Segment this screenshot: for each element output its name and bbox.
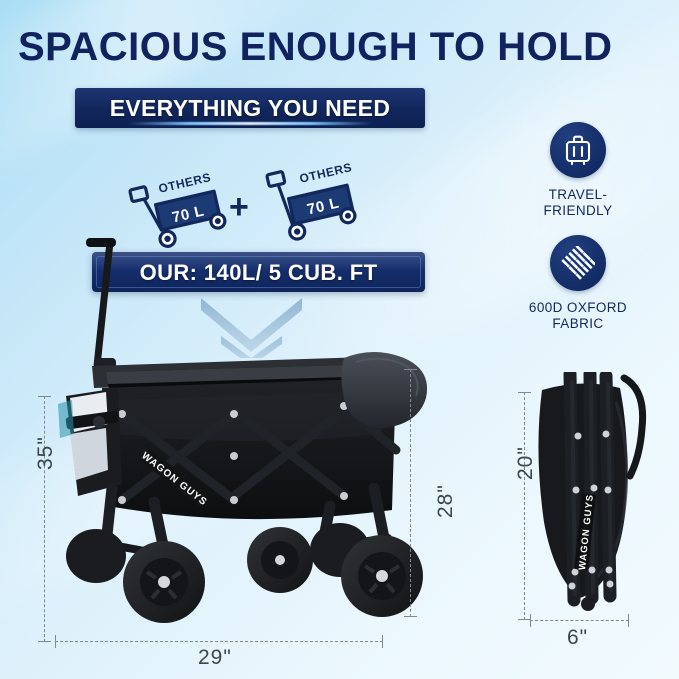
dimension-label-main-height: 35" — [34, 436, 58, 470]
dimension-tick — [518, 392, 531, 393]
feature-badge-oxford-fabric: 600D OXFORD FABRIC — [498, 235, 658, 331]
dimension-label-folded-height: 20" — [514, 446, 538, 480]
page-title: SPACIOUS ENOUGH TO HOLD — [18, 26, 658, 68]
dimension-tick — [55, 635, 56, 648]
dimension-line-main-height — [44, 396, 45, 642]
dimension-line-body-height — [410, 369, 411, 617]
product-image-wagon-folded: WAGON GUYS — [520, 372, 660, 634]
badge-circle — [550, 235, 606, 291]
product-image-wagon-open: WAGON GUYS — [44, 238, 434, 633]
dimension-tick — [38, 641, 51, 642]
banner-glow-underline — [128, 122, 373, 125]
woven-fabric-icon — [561, 246, 595, 280]
feature-badge-travel-friendly: TRAVEL- FRIENDLY — [498, 122, 658, 218]
dimension-tick — [382, 635, 383, 648]
suitcase-icon — [563, 134, 593, 166]
competitor-wagon-icon-2: OTHERS 70 L — [259, 162, 379, 250]
dimension-line-folded-width — [530, 620, 629, 621]
badge-caption-line2: FABRIC — [552, 316, 603, 331]
dimension-label-body-height: 28" — [434, 484, 458, 518]
badge-caption: 600D OXFORD FABRIC — [498, 300, 658, 331]
dimension-label-main-width: 29" — [198, 646, 232, 670]
dimension-line-main-width — [55, 641, 383, 642]
badge-caption-line1: 600D OXFORD — [529, 300, 627, 315]
dimension-tick — [404, 616, 417, 617]
badge-caption: TRAVEL- FRIENDLY — [498, 187, 658, 218]
dimension-tick — [404, 369, 417, 370]
dimension-line-folded-height — [524, 392, 525, 620]
plus-operator: + — [229, 190, 249, 224]
dimension-tick — [38, 396, 51, 397]
dimension-tick — [628, 614, 629, 627]
dimension-tick — [530, 614, 531, 627]
infographic-canvas: SPACIOUS ENOUGH TO HOLD EVERYTHING YOU N… — [0, 0, 679, 679]
badge-caption-line2: FRIENDLY — [544, 203, 613, 218]
badge-caption-line1: TRAVEL- — [549, 187, 608, 202]
badge-circle — [550, 122, 606, 178]
dimension-label-folded-width: 6" — [567, 626, 588, 650]
subheadline-banner: EVERYTHING YOU NEED — [75, 88, 425, 128]
subheadline-label: EVERYTHING YOU NEED — [75, 95, 425, 122]
